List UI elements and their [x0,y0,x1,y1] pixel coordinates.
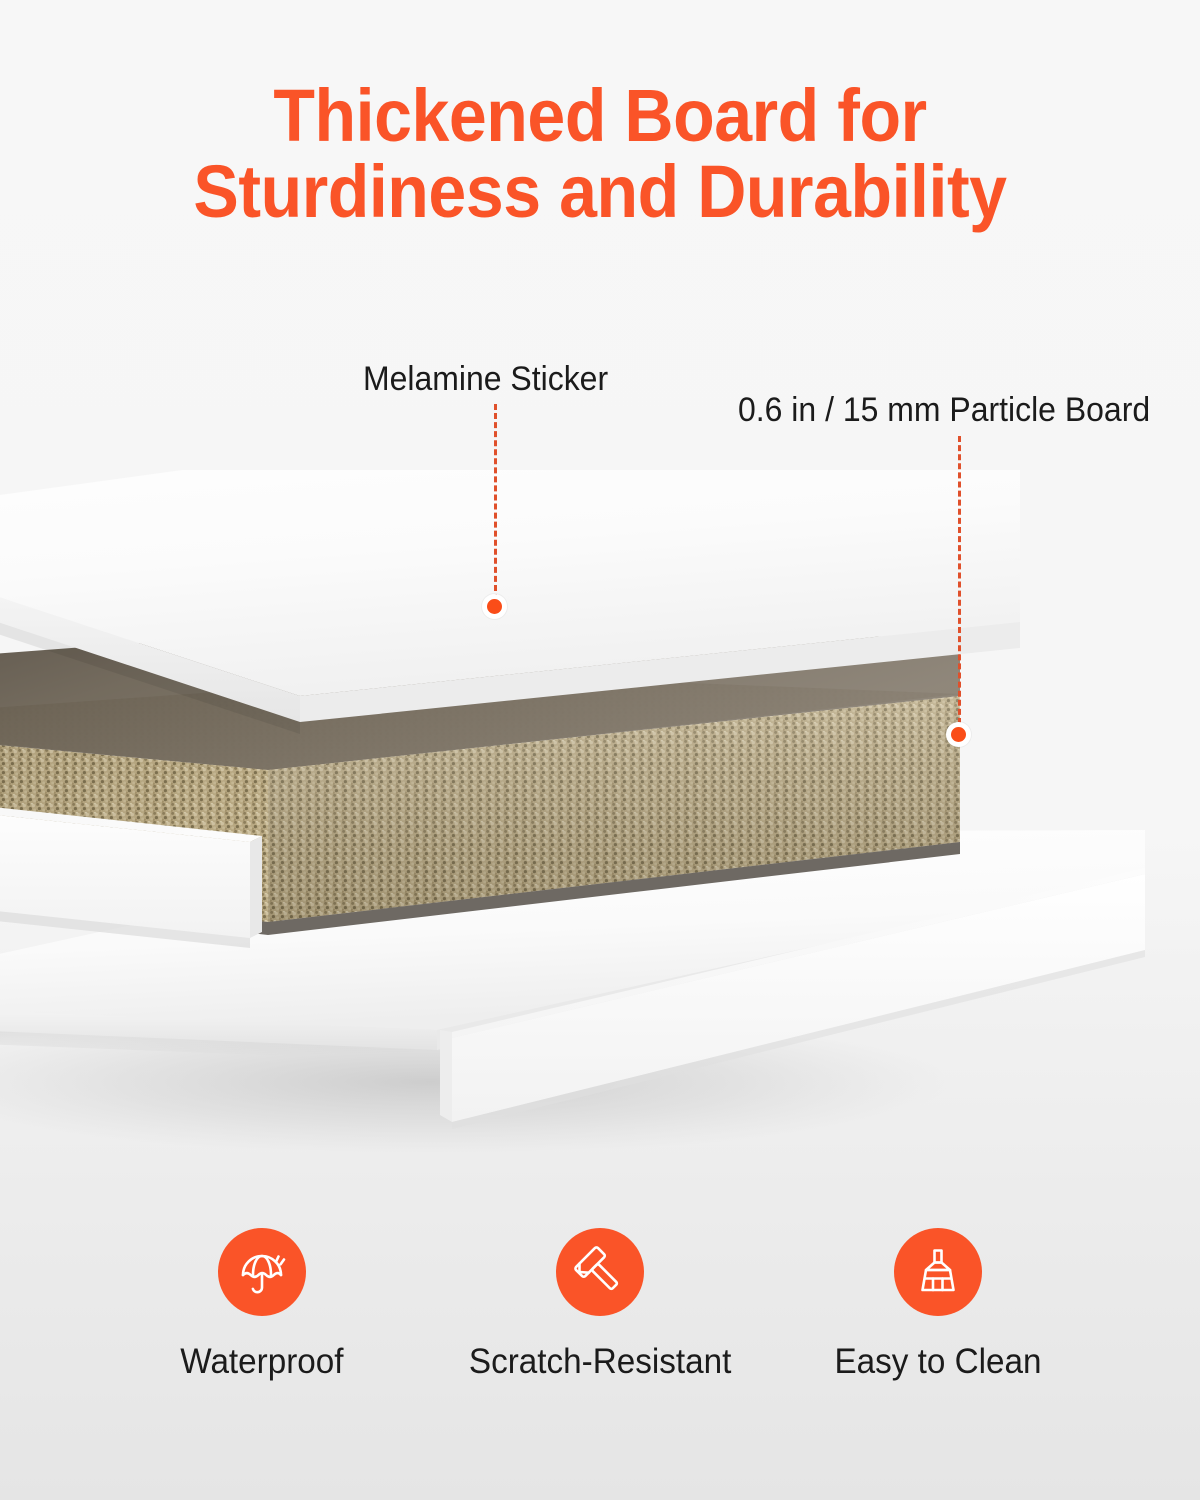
page-title-line-2: Sturdiness and Durability [48,154,1152,230]
feature-item-waterproof: Waterproof [142,1228,382,1382]
board-illustration [0,470,1200,1170]
umbrella-icon [218,1228,306,1316]
broom-icon [894,1228,982,1316]
feature-label-easy-to-clean: Easy to Clean [834,1342,1041,1382]
callout-leader-particle-board [958,436,961,724]
page-title-line-1: Thickened Board for [48,78,1152,154]
feature-label-waterproof: Waterproof [180,1342,343,1382]
feature-label-scratch-resistant: Scratch-Resistant [469,1342,731,1382]
callout-label-melamine-sticker: Melamine Sticker [363,360,608,399]
callout-dot-melamine-sticker [487,599,502,614]
callout-leader-melamine-sticker [494,404,497,600]
page-title: Thickened Board for Sturdiness and Durab… [0,78,1200,230]
callout-label-particle-board: 0.6 in / 15 mm Particle Board [738,391,1150,430]
callout-dot-particle-board [951,727,966,742]
feature-item-scratch-resistant: Scratch-Resistant [480,1228,720,1382]
hammer-icon [556,1228,644,1316]
feature-item-easy-to-clean: Easy to Clean [818,1228,1058,1382]
feature-list: Waterproof Scratch-Resistant [0,1228,1200,1382]
